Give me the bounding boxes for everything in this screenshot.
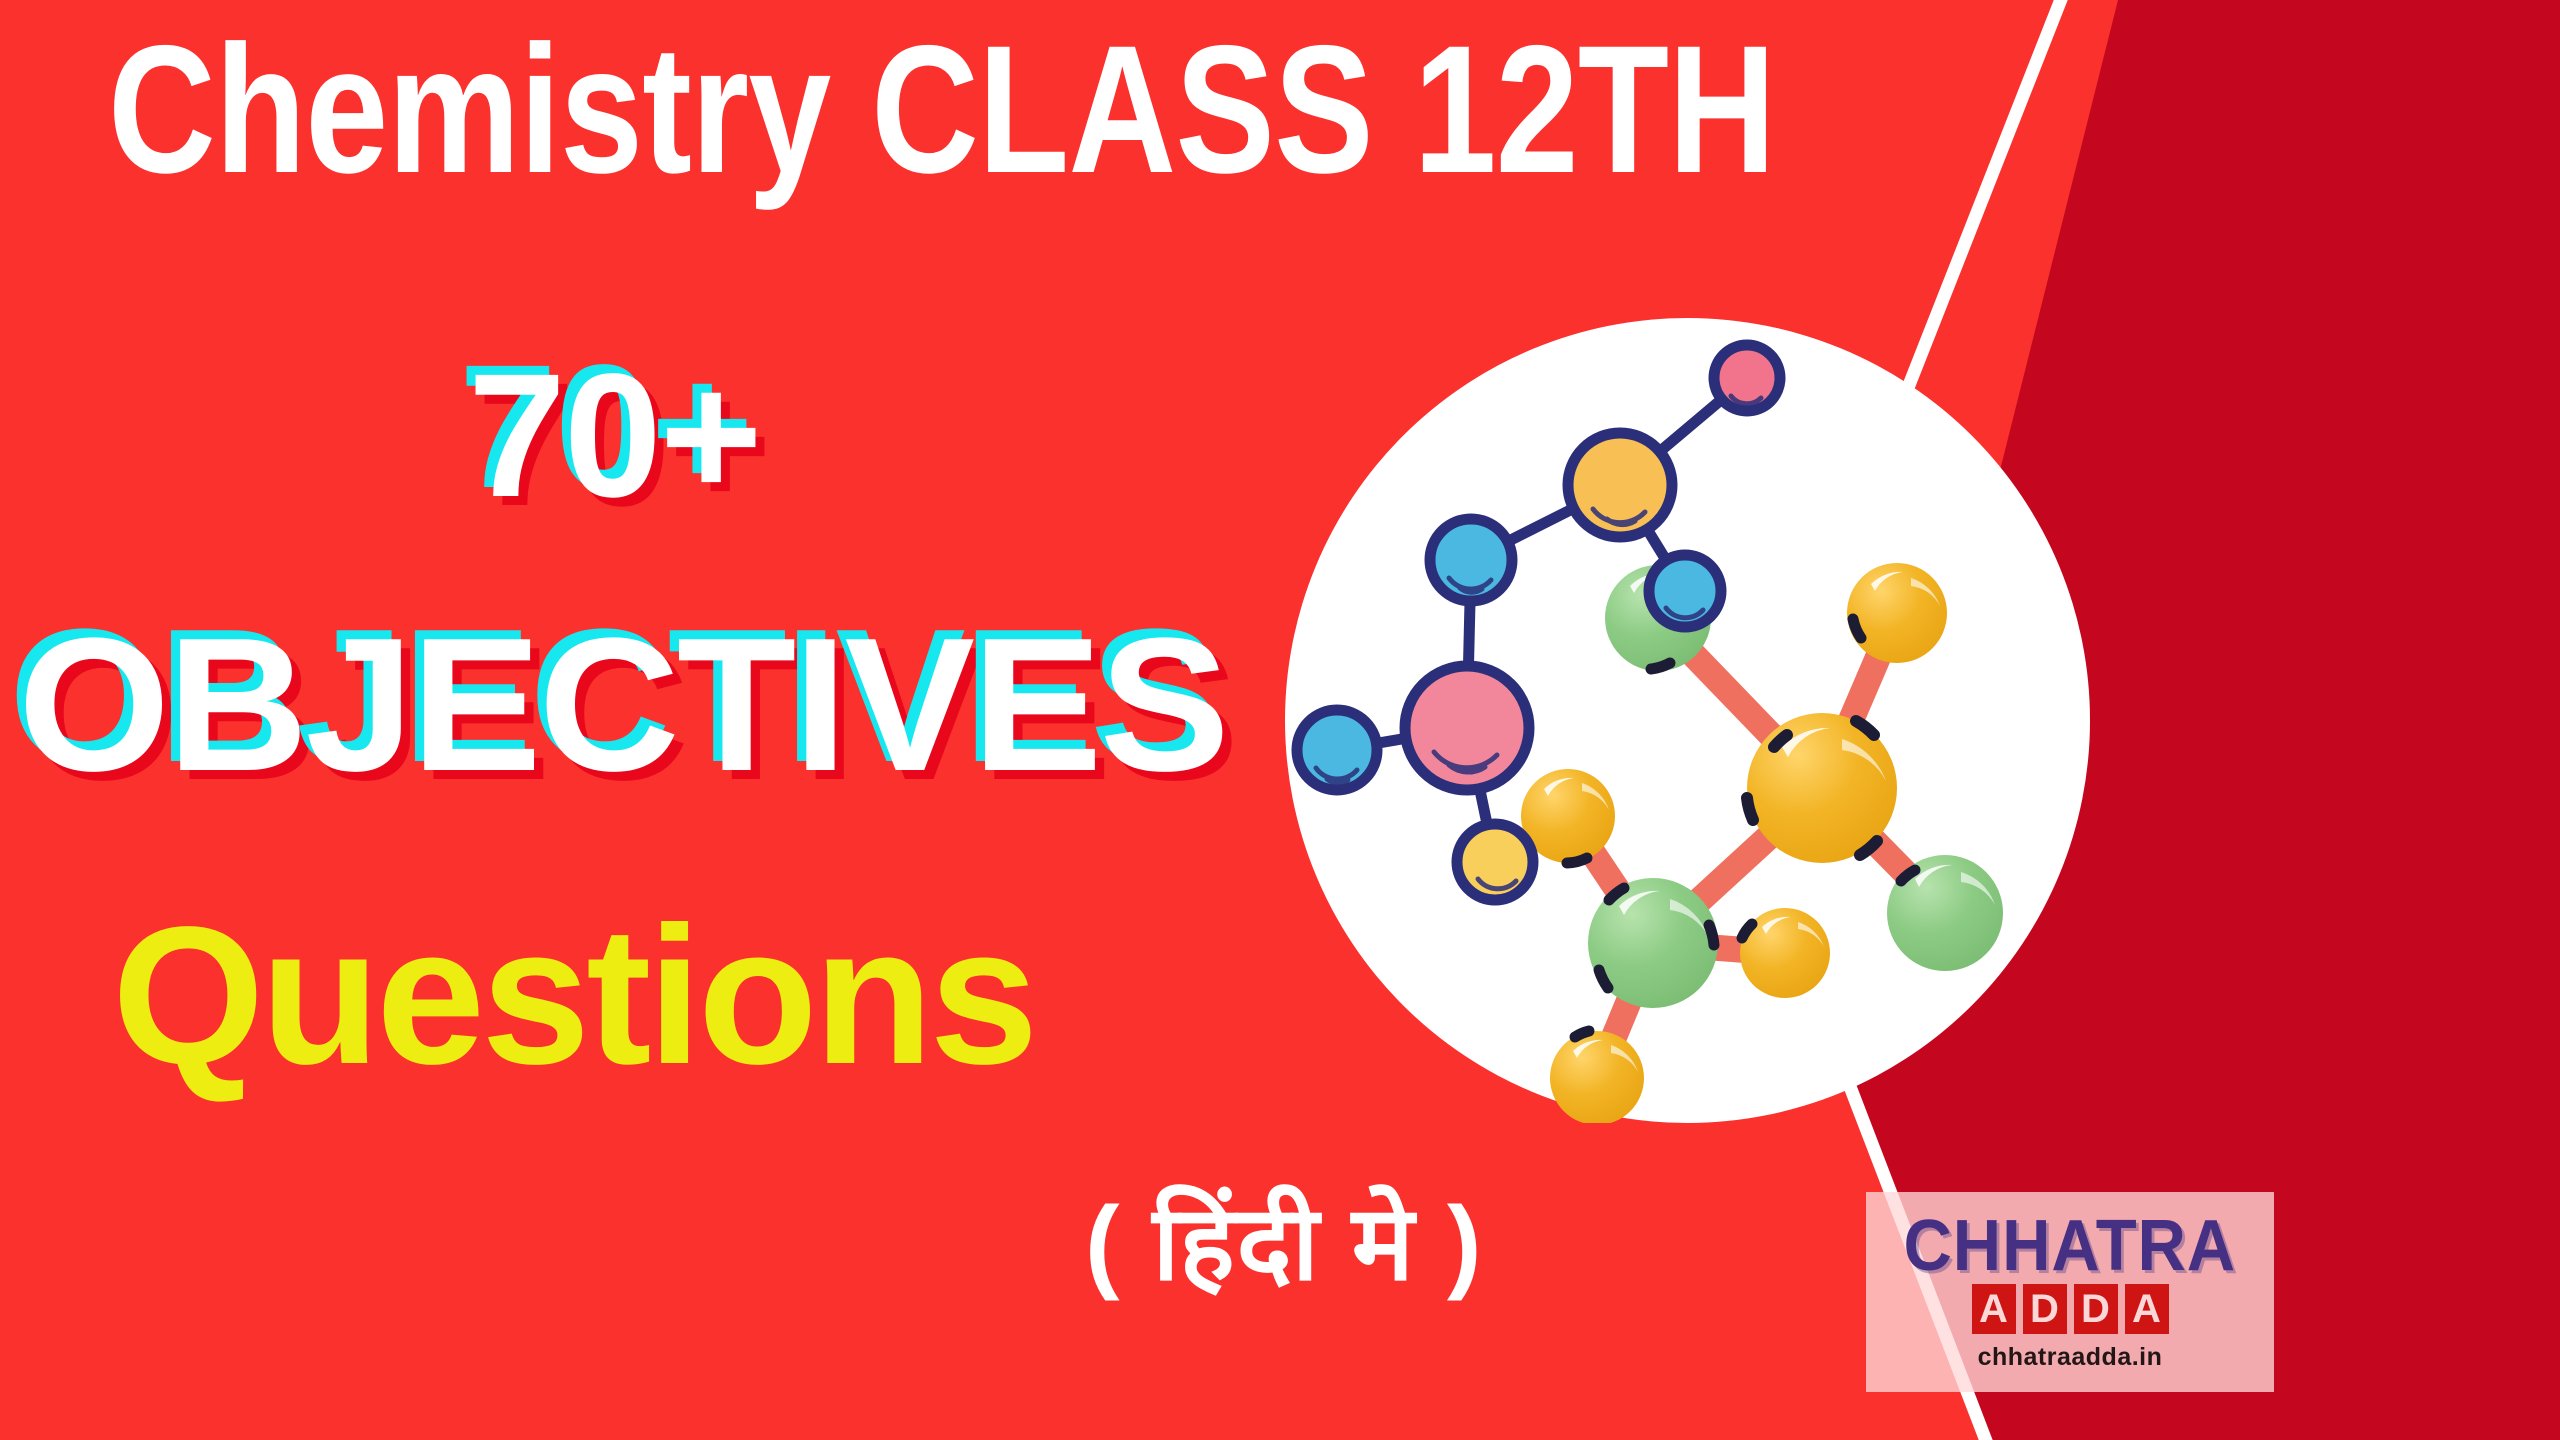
language-note: ( हिंदी मे )	[1085, 1192, 1483, 1296]
molecule-illustration	[1285, 318, 2090, 1123]
brand-name-top: CHHATRA	[1904, 1212, 2237, 1280]
questions-label: Questions	[112, 898, 1034, 1094]
objectives-label: OBJECTIVES	[18, 610, 1227, 800]
brand-letter-tile: D	[2074, 1284, 2118, 1334]
brand-letter-tile: A	[1972, 1284, 2016, 1334]
poster-canvas: Chemistry CLASS 12TH 70+ OBJECTIVES Ques…	[0, 0, 2560, 1440]
molecule-svg	[1285, 318, 2090, 1123]
page-title: Chemistry CLASS 12TH	[108, 18, 1775, 200]
brand-letter-tile: D	[2023, 1284, 2067, 1334]
brand-logo[interactable]: CHHATRA A D D A chhatraadda.in	[1866, 1192, 2274, 1392]
brand-website-url[interactable]: chhatraadda.in	[1978, 1343, 2163, 1372]
brand-name-bottom: A D D A	[1972, 1284, 2169, 1334]
brand-letter-tile: A	[2125, 1284, 2169, 1334]
molecule-bonds-3d	[1568, 613, 1945, 1078]
question-count-label: 70+	[468, 348, 761, 524]
